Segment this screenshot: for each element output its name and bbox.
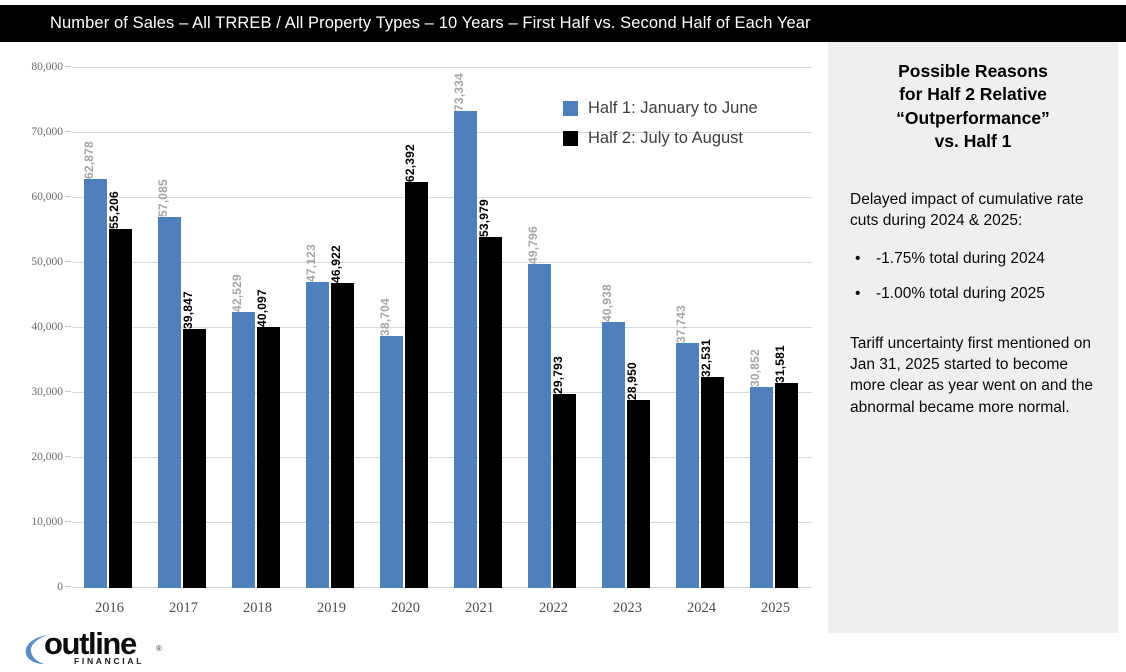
legend-swatch-half1 (563, 101, 578, 116)
slide-title-bar: Number of Sales – All TRREB / All Proper… (0, 5, 1126, 42)
bar-value-label: 29,793 (551, 356, 565, 394)
bar-group-2016: 62,87855,2062016 (72, 68, 147, 588)
bar-2024-half2[interactable]: 32,531 (701, 377, 724, 588)
bar-value-label: 30,852 (748, 350, 762, 388)
y-axis-tick-mark (65, 456, 71, 457)
bullet-text: -1.75% total during 2024 (876, 248, 1045, 269)
bar-2022-half1[interactable]: 49,796 (528, 264, 551, 588)
bar-2023-half1[interactable]: 40,938 (602, 322, 625, 588)
side-panel-paragraph-2: Tariff uncertainty first mentioned on Ja… (850, 333, 1096, 419)
bullet-text: -1.00% total during 2025 (876, 283, 1045, 304)
x-axis-tick-label: 2017 (146, 600, 221, 617)
bar-group-2017: 57,08539,8472017 (146, 68, 221, 588)
legend-swatch-half2 (563, 131, 578, 146)
bar-2024-half1[interactable]: 37,743 (676, 343, 699, 588)
logo-subtitle: FINANCIAL (74, 656, 144, 666)
y-axis-tick-label: 70,000 (31, 126, 63, 138)
y-axis-tick-label: 30,000 (31, 386, 63, 398)
side-panel-paragraph-1: Delayed impact of cumulative rate cuts d… (850, 189, 1096, 232)
bar-value-label: 40,938 (600, 284, 614, 322)
bar-2021-half1[interactable]: 73,334 (454, 111, 477, 588)
bar-value-label: 57,085 (156, 179, 170, 217)
x-axis-tick-label: 2023 (590, 600, 665, 617)
bar-2020-half1[interactable]: 38,704 (380, 336, 403, 588)
y-axis-tick-label: 60,000 (31, 191, 63, 203)
bar-value-label: 62,878 (82, 141, 96, 179)
bar-2020-half2[interactable]: 62,392 (405, 182, 428, 588)
y-axis-tick-label: 80,000 (31, 61, 63, 73)
legend-item-half2[interactable]: Half 2: July to August (563, 123, 758, 153)
bullet-dot-icon: • (850, 248, 876, 269)
x-axis-tick-label: 2022 (516, 600, 591, 617)
bar-group-2020: 38,70462,3922020 (368, 68, 443, 588)
y-axis-tick-label: 10,000 (31, 516, 63, 528)
bar-group-2021: 73,33453,9792021 (442, 68, 517, 588)
x-axis-tick-label: 2019 (294, 600, 369, 617)
bar-group-2018: 42,52940,0972018 (220, 68, 295, 588)
bullet-item: •-1.75% total during 2024 (850, 248, 1096, 269)
bar-2022-half2[interactable]: 29,793 (553, 394, 576, 588)
bar-2025-half2[interactable]: 31,581 (775, 383, 798, 588)
bar-value-label: 38,704 (378, 299, 392, 337)
bar-value-label: 62,392 (403, 145, 417, 183)
y-axis-tick-mark (65, 66, 71, 67)
y-axis-tick-mark (65, 391, 71, 392)
bar-2016-half1[interactable]: 62,878 (84, 179, 107, 588)
chart-legend: Half 1: January to June Half 2: July to … (563, 93, 758, 153)
side-panel: Possible Reasonsfor Half 2 Relative“Outp… (828, 42, 1118, 633)
y-axis-tick-mark (65, 326, 71, 327)
bar-value-label: 39,847 (181, 291, 195, 329)
y-axis-tick-mark (65, 131, 71, 132)
y-axis-tick-mark (65, 196, 71, 197)
bar-value-label: 55,206 (107, 191, 121, 229)
bar-value-label: 42,529 (230, 274, 244, 312)
bar-2018-half2[interactable]: 40,097 (257, 327, 280, 588)
side-panel-bullet-list: •-1.75% total during 2024•-1.00% total d… (850, 248, 1096, 305)
y-axis-tick-label: 40,000 (31, 321, 63, 333)
x-axis-tick-label: 2025 (738, 600, 813, 617)
x-axis-tick-label: 2020 (368, 600, 443, 617)
bar-2023-half2[interactable]: 28,950 (627, 400, 650, 588)
bar-value-label: 73,334 (452, 73, 466, 111)
x-axis-tick-label: 2021 (442, 600, 517, 617)
bar-2025-half1[interactable]: 30,852 (750, 387, 773, 588)
y-axis-tick-label: 0 (57, 581, 63, 593)
bullet-item: •-1.00% total during 2025 (850, 283, 1096, 304)
side-panel-heading: Possible Reasonsfor Half 2 Relative“Outp… (850, 60, 1096, 153)
bar-value-label: 28,950 (625, 362, 639, 400)
y-axis-tick-mark (65, 261, 71, 262)
bar-2017-half1[interactable]: 57,085 (158, 217, 181, 588)
y-axis-tick-mark (65, 521, 71, 522)
bar-value-label: 37,743 (674, 305, 688, 343)
bar-group-2019: 47,12346,9222019 (294, 68, 369, 588)
bar-value-label: 46,922 (329, 245, 343, 283)
y-axis-tick-mark (65, 586, 71, 587)
bar-2016-half2[interactable]: 55,206 (109, 229, 132, 588)
x-axis-tick-label: 2018 (220, 600, 295, 617)
bar-value-label: 49,796 (526, 226, 540, 264)
outline-financial-logo: outline ® FINANCIAL (22, 630, 192, 672)
bar-2018-half1[interactable]: 42,529 (232, 312, 255, 588)
bullet-dot-icon: • (850, 283, 876, 304)
y-axis-tick-label: 20,000 (31, 451, 63, 463)
bar-value-label: 53,979 (477, 199, 491, 237)
x-axis-tick-label: 2016 (72, 600, 147, 617)
bar-value-label: 32,531 (699, 339, 713, 377)
bar-2019-half1[interactable]: 47,123 (306, 282, 329, 588)
bar-2019-half2[interactable]: 46,922 (331, 283, 354, 588)
bar-2021-half2[interactable]: 53,979 (479, 237, 502, 588)
legend-label-half2: Half 2: July to August (588, 129, 743, 148)
page-title: Number of Sales – All TRREB / All Proper… (0, 14, 811, 33)
bar-value-label: 31,581 (773, 345, 787, 383)
y-axis-tick-label: 50,000 (31, 256, 63, 268)
bar-value-label: 40,097 (255, 289, 269, 327)
legend-item-half1[interactable]: Half 1: January to June (563, 93, 758, 123)
bar-2017-half2[interactable]: 39,847 (183, 329, 206, 588)
bar-value-label: 47,123 (304, 244, 318, 282)
chart-container: 80,00070,00060,00050,00040,00030,00020,0… (0, 42, 828, 649)
x-axis-tick-label: 2024 (664, 600, 739, 617)
legend-label-half1: Half 1: January to June (588, 99, 758, 118)
